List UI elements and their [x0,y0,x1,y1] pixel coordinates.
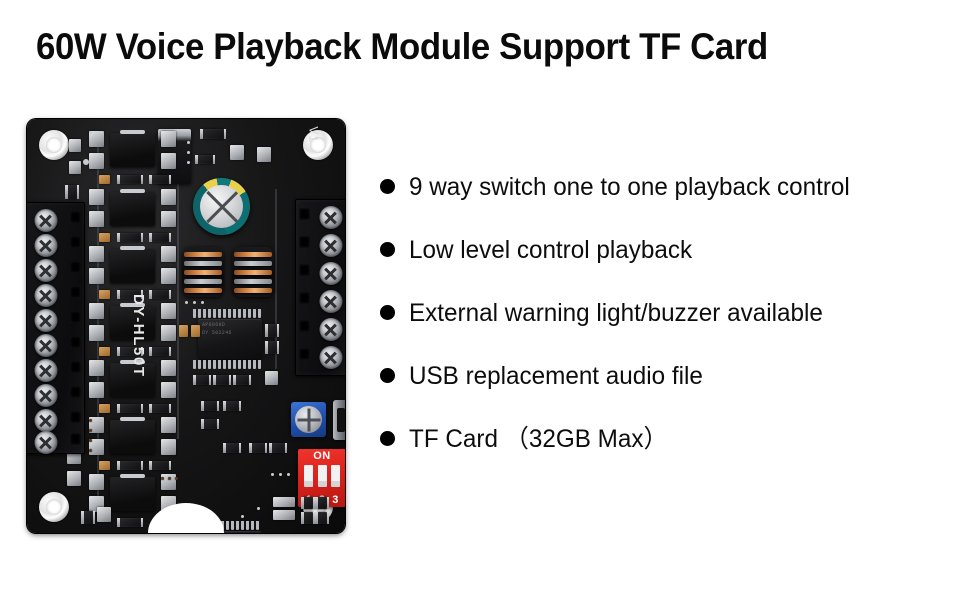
feature-item: 9 way switch one to one playback control [380,172,970,235]
toroidal-inductor [232,247,274,297]
smd-pad [89,303,104,319]
feature-item: TF Card （32GB Max） [380,424,970,487]
ic-pin-row [193,360,261,369]
smd-pad [230,145,244,160]
smd-resistor [317,497,327,509]
smd-resistor [151,290,169,299]
smd-pad [161,268,176,284]
terminal-screw[interactable] [319,318,342,341]
smd-resistor [151,404,169,413]
smd-pad [161,303,176,319]
smd-capacitor [191,325,200,337]
dip-lever-3[interactable] [331,465,340,487]
electrolytic-capacitor [193,178,250,235]
power-mosfet [110,420,155,454]
smd-pad [161,189,176,205]
smd-resistor [267,341,277,354]
feature-text: Low level control playback [409,235,692,265]
test-point [83,159,89,165]
bullet-icon [380,179,395,194]
smd-resistor [225,401,239,411]
smd-pad [161,153,176,169]
smd-pad [161,211,176,227]
potentiometer-slot [307,408,310,431]
silkscreen-version: V1 [307,126,321,143]
smd-capacitor [99,461,110,470]
smd-pad [161,417,176,433]
terminal-screw[interactable] [34,431,57,454]
smd-pad [69,161,81,174]
smd-resistor [119,404,141,413]
ic-marking: AP8069D [202,322,225,328]
silkscreen-part-number: DY-HL50T [130,294,147,378]
smd-pad [161,325,176,341]
dip-lever-1[interactable] [304,465,313,487]
terminal-screw[interactable] [34,309,57,332]
smd-resistor [119,461,141,470]
mounting-hole [39,492,69,522]
smd-pad [161,439,176,455]
feature-text: External warning light/buzzer available [409,298,823,328]
bullet-icon [380,305,395,320]
dip-lever-2[interactable] [318,465,327,487]
mounting-hole [39,130,69,160]
smd-resistor [203,401,217,411]
toroidal-inductor [182,247,224,297]
feature-item: External warning light/buzzer available [380,298,970,361]
terminal-screw[interactable] [319,290,342,313]
smd-pad [69,139,81,152]
feature-text: USB replacement audio file [409,361,703,391]
smd-pad [89,360,104,376]
smd-pad [161,246,176,262]
smd-resistor [151,233,169,242]
smd-capacitor [99,175,110,184]
power-mosfet [110,477,155,511]
smd-pad [257,147,271,162]
smd-resistor [251,443,265,453]
terminal-block-left[interactable] [27,202,85,454]
smd-resistor [151,461,169,470]
smd-pad [161,382,176,398]
smd-pad [89,325,104,341]
smd-pad [67,471,81,486]
board-notch [148,503,224,533]
test-point [89,131,92,134]
smd-resistor [67,185,77,199]
smd-resistor [235,375,249,385]
terminal-screw[interactable] [34,384,57,407]
power-mosfet [110,249,155,283]
power-mosfet [110,133,155,167]
power-mosfet [110,192,155,226]
smd-capacitor [99,347,110,356]
pcb-trace [177,139,179,439]
smd-resistor [195,375,209,385]
smd-resistor [203,419,217,429]
terminal-screw[interactable] [319,206,342,229]
dip-number-3: 3 [332,494,338,506]
bullet-icon [380,431,395,446]
smd-resistor [215,375,229,385]
dip-switch-on-label: ON [298,450,345,462]
dip-switch-levers[interactable] [304,465,340,487]
smd-resistor [303,512,313,524]
smd-pad [161,131,176,147]
smd-resistor [119,233,141,242]
smd-pad [273,510,295,520]
smd-capacitor [99,233,110,242]
smd-resistor [119,518,141,527]
smd-resistor [267,324,277,337]
trimmer-potentiometer[interactable] [291,402,326,437]
smd-pad [89,211,104,227]
smd-resistor [197,155,213,164]
smd-pad [89,382,104,398]
terminal-screw[interactable] [319,234,342,257]
smd-pad [97,507,111,522]
ic-pin-row [193,309,261,318]
test-point [187,151,190,154]
smd-resistor [271,443,285,453]
feature-list: 9 way switch one to one playback control… [380,172,970,487]
pcb-board: AP8069D DY 502246 [27,119,345,533]
smd-resistor [303,497,313,509]
smd-resistor [317,512,327,524]
smd-capacitor [99,404,110,413]
smd-pad [89,189,104,205]
page-title: 60W Voice Playback Module Support TF Car… [36,26,768,68]
smd-pad [89,153,104,169]
terminal-screw[interactable] [319,346,342,369]
terminal-screw[interactable] [34,334,57,357]
terminal-screw[interactable] [34,234,57,257]
smd-resistor [151,175,169,184]
terminal-screw[interactable] [34,409,57,432]
smd-pad [89,474,104,490]
feature-item: USB replacement audio file [380,361,970,424]
smd-pad [89,268,104,284]
terminal-screw[interactable] [34,259,57,282]
terminal-screw[interactable] [34,284,57,307]
smd-resistor [151,347,169,356]
test-point [187,161,190,164]
smd-resistor [225,443,239,453]
smd-capacitor [179,325,188,337]
smd-pad [161,360,176,376]
smd-pad [273,497,295,507]
bullet-icon [380,368,395,383]
terminal-screw[interactable] [319,262,342,285]
smd-pad [89,246,104,262]
test-point [99,131,102,134]
feature-text: TF Card （32GB Max） [409,424,668,454]
smd-resistor [119,175,141,184]
smd-resistor [83,511,93,524]
bullet-icon [380,242,395,257]
ic-marking: DY 502246 [202,330,232,336]
pcb-product-photo: AP8069D DY 502246 [27,119,345,533]
terminal-screw[interactable] [34,209,57,232]
terminal-block-right[interactable] [295,199,345,376]
smd-capacitor [99,290,110,299]
terminal-screw[interactable] [34,359,57,382]
test-point [187,141,190,144]
micro-usb-port[interactable] [333,400,345,440]
smd-pad [265,371,278,385]
feature-text: 9 way switch one to one playback control [409,172,850,202]
feature-item: Low level control playback [380,235,970,298]
smd-resistor [202,129,224,139]
main-audio-ic: AP8069D DY 502246 [198,319,262,359]
